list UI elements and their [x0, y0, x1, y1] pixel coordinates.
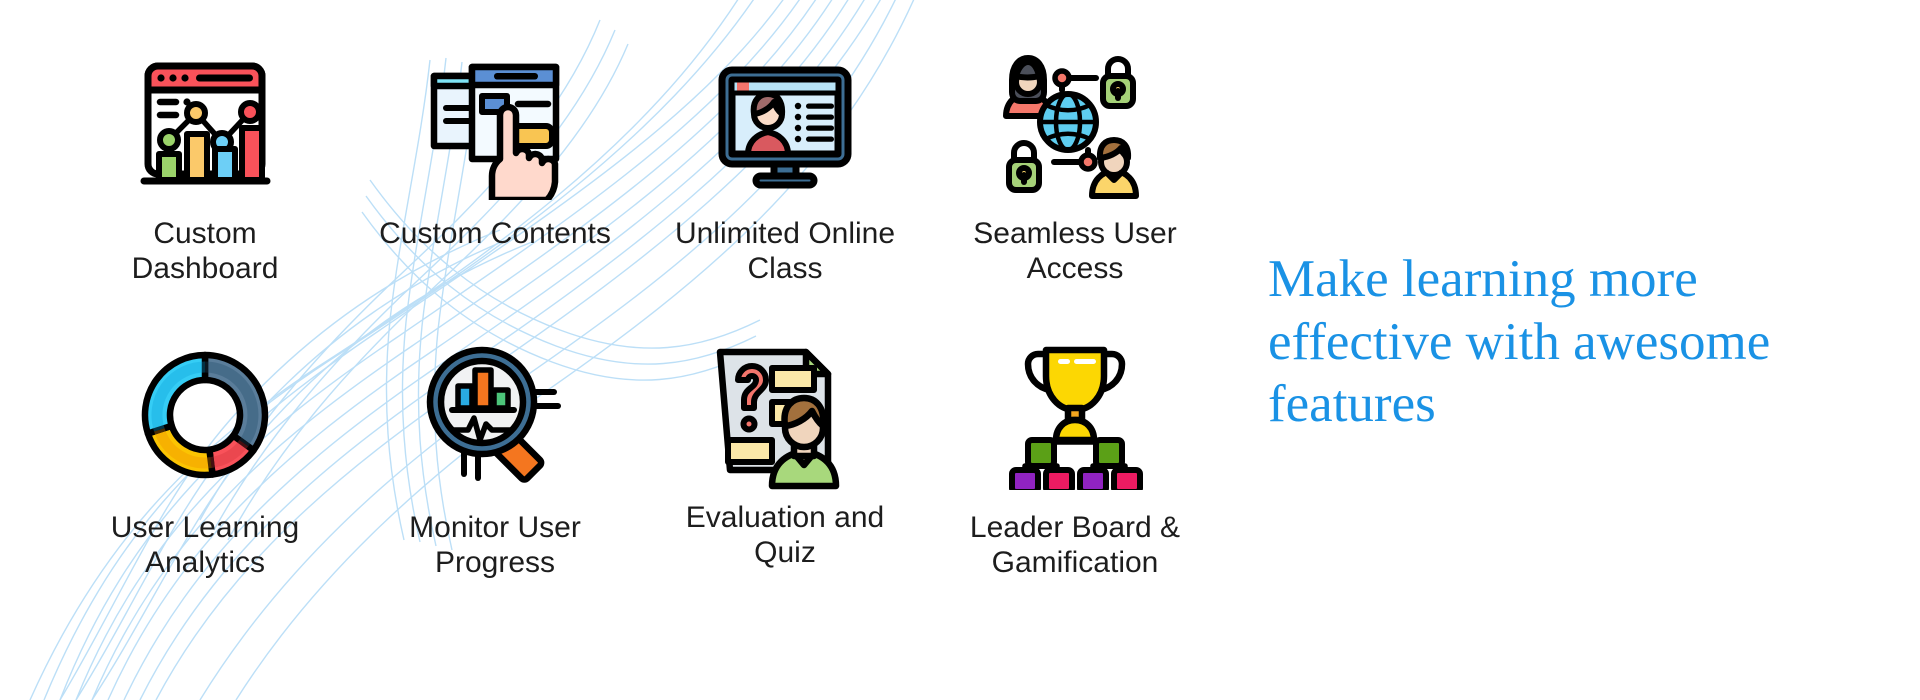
dashboard-chart-icon	[120, 40, 290, 210]
feature-label: Custom Dashboard	[78, 216, 333, 287]
feature-item-custom-contents[interactable]: Custom Contents	[350, 40, 640, 330]
feature-item-user-learning-analytics[interactable]: User Learning Analytics	[60, 330, 350, 620]
feature-label: Seamless User Access	[948, 216, 1203, 287]
feature-item-unlimited-online-class[interactable]: Unlimited Online Class	[640, 40, 930, 330]
online-class-monitor-icon	[700, 40, 870, 210]
feature-label: Monitor User Progress	[368, 510, 623, 581]
feature-item-seamless-user-access[interactable]: Seamless User Access	[930, 40, 1220, 330]
feature-label: Unlimited Online Class	[658, 216, 913, 287]
feature-label: Evaluation and Quiz	[658, 500, 913, 571]
feature-label: Leader Board & Gamification	[948, 510, 1203, 581]
feature-item-monitor-user-progress[interactable]: Monitor User Progress	[350, 330, 640, 620]
features-grid: Custom Dashboard	[60, 40, 1220, 620]
feature-item-custom-dashboard[interactable]: Custom Dashboard	[60, 40, 350, 330]
magnifier-progress-icon	[410, 330, 580, 500]
feature-item-leader-board-gamification[interactable]: Leader Board & Gamification	[930, 330, 1220, 620]
headline-block: Make learning more effective with awesom…	[1268, 248, 1868, 436]
quiz-paper-person-icon	[700, 330, 870, 500]
user-access-globe-lock-icon	[990, 40, 1160, 210]
features-section: Custom Dashboard	[0, 0, 1920, 700]
feature-label: Custom Contents	[379, 216, 611, 251]
feature-label: User Learning Analytics	[78, 510, 333, 581]
feature-item-evaluation-and-quiz[interactable]: Evaluation and Quiz	[640, 330, 930, 620]
donut-analytics-icon	[120, 330, 290, 500]
headline-text: Make learning more effective with awesom…	[1268, 248, 1868, 436]
trophy-leaderboard-icon	[990, 330, 1160, 500]
content-cards-hand-icon	[410, 40, 580, 210]
